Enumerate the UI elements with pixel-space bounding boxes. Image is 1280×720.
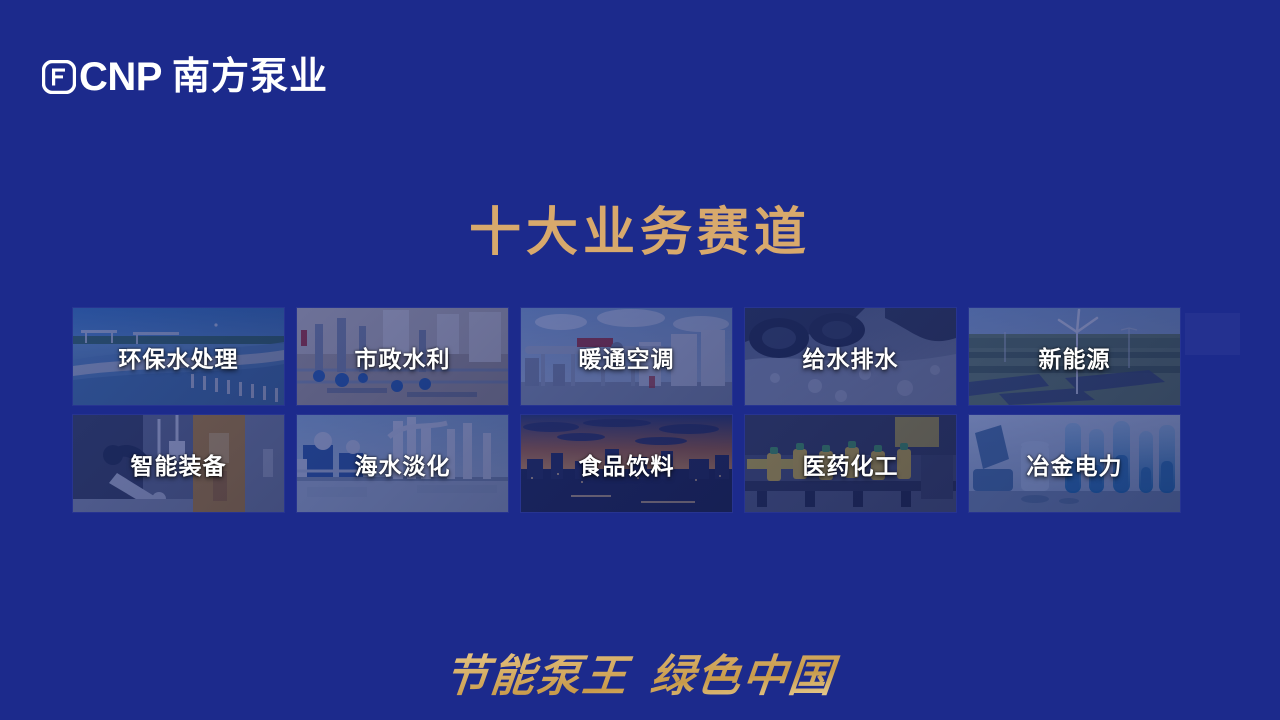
card-label: 医药化工 <box>803 447 899 481</box>
card-label: 智能装备 <box>131 447 227 481</box>
slogan-left: 节能泵王 <box>442 652 631 701</box>
card-label: 环保水处理 <box>119 340 239 374</box>
business-track-grid: 环保水处理 <box>73 308 1208 512</box>
brand-slogan: 节能泵王绿色中国 <box>0 640 1280 704</box>
page-title: 十大业务赛道 <box>0 202 1280 264</box>
card-pharma-chemical[interactable]: 医药化工 <box>745 415 956 512</box>
card-label: 给水排水 <box>803 340 899 374</box>
card-municipal-water[interactable]: 市政水利 <box>297 308 508 405</box>
slide-root: CNP 南方泵业 十大业务赛道 <box>0 0 1280 720</box>
card-label: 暖通空调 <box>579 340 675 374</box>
card-label: 食品饮料 <box>579 447 675 481</box>
card-metallurgy-power[interactable]: 冶金电力 <box>969 415 1180 512</box>
slogan-right: 绿色中国 <box>648 652 837 701</box>
logo-latin-text: CNP <box>79 57 162 97</box>
card-label: 海水淡化 <box>355 447 451 481</box>
logo-chinese-text: 南方泵业 <box>172 58 328 96</box>
card-food-beverage[interactable]: 食品饮料 <box>521 415 732 512</box>
card-label: 冶金电力 <box>1027 447 1123 481</box>
card-label: 市政水利 <box>355 340 451 374</box>
card-water-supply-drainage[interactable]: 给水排水 <box>745 308 956 405</box>
card-hvac[interactable]: 暖通空调 <box>521 308 732 405</box>
card-smart-equipment[interactable]: 智能装备 <box>73 415 284 512</box>
card-desalination[interactable]: 海水淡化 <box>297 415 508 512</box>
card-new-energy[interactable]: 新能源 <box>969 308 1180 405</box>
brand-logo: CNP 南方泵业 <box>42 54 328 100</box>
card-water-treatment[interactable]: 环保水处理 <box>73 308 284 405</box>
cnp-logo-mark-icon <box>42 60 76 94</box>
card-label: 新能源 <box>1039 340 1111 374</box>
